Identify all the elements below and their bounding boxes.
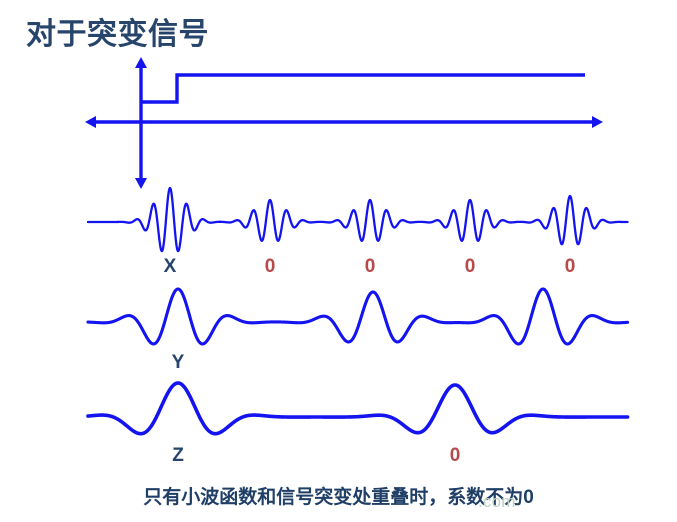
wavelet-rows-figure <box>0 0 677 522</box>
wavelet-label-0: 0 <box>450 445 461 467</box>
row-x-high-frequency-waveform <box>88 188 628 251</box>
wavelet-label-0: 0 <box>565 256 576 278</box>
wavelet-label-z: Z <box>172 445 184 467</box>
wavelet-label-x: X <box>164 256 177 278</box>
wavelet-label-y: Y <box>172 352 185 374</box>
slide-canvas: 对于突变信号 X0000YZ0 只有小波函数和信号突变处重叠时，系数不为0 .c… <box>0 0 677 522</box>
wavelet-label-0: 0 <box>465 256 476 278</box>
row-y-mid-frequency-waveform <box>88 289 628 344</box>
row-z-low-frequency-waveform <box>88 383 628 434</box>
wavelet-label-0: 0 <box>365 256 376 278</box>
caption-text: 只有小波函数和信号突变处重叠时，系数不为0 <box>0 482 677 509</box>
wavelet-label-0: 0 <box>265 256 276 278</box>
watermark-text: .com <box>478 492 516 512</box>
